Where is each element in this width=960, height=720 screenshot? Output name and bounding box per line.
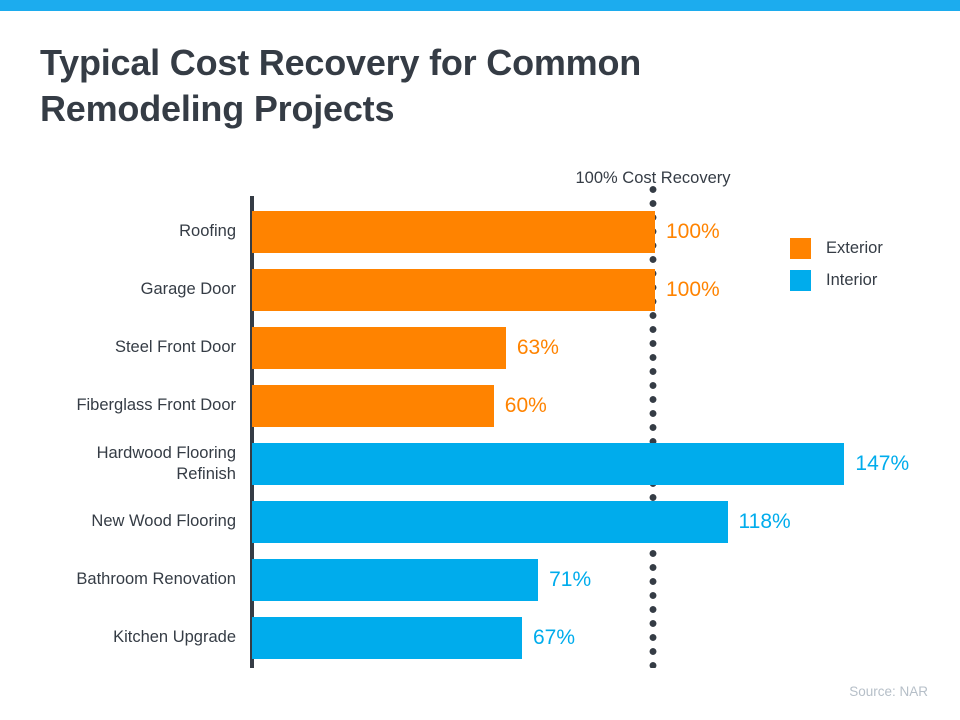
source-attribution: Source: NAR (849, 684, 928, 699)
legend-swatch-icon (790, 270, 811, 291)
bar-rect[interactable] (252, 501, 728, 543)
legend-label: Exterior (826, 239, 883, 258)
bar-value-label: 67% (533, 626, 575, 650)
bar-category-label: Kitchen Upgrade (6, 627, 236, 648)
legend-label: Interior (826, 271, 877, 290)
bar-rect[interactable] (252, 211, 655, 253)
chart-plot-area: 100% Cost Recovery Roofing100%Garage Doo… (0, 0, 960, 720)
bar-value-label: 60% (505, 394, 547, 418)
bar-category-label: Roofing (6, 221, 236, 242)
bar-rect[interactable] (252, 269, 655, 311)
bar-category-label: Garage Door (6, 279, 236, 300)
bar-value-label: 100% (666, 220, 720, 244)
bar-row: Steel Front Door63% (0, 327, 960, 369)
bar-value-label: 63% (517, 336, 559, 360)
bar-rect[interactable] (252, 443, 844, 485)
bar-rect[interactable] (252, 327, 506, 369)
bar-category-label: Fiberglass Front Door (6, 395, 236, 416)
bar-category-label: Hardwood Flooring Refinish (6, 443, 236, 485)
bar-value-label: 100% (666, 278, 720, 302)
bar-rect[interactable] (252, 617, 522, 659)
bar-value-label: 147% (855, 452, 909, 476)
bar-value-label: 118% (739, 510, 791, 534)
bar-category-label: Bathroom Renovation (6, 569, 236, 590)
bar-rect[interactable] (252, 559, 538, 601)
bar-row: Bathroom Renovation71% (0, 559, 960, 601)
bar-category-label: Steel Front Door (6, 337, 236, 358)
bar-row: New Wood Flooring118% (0, 501, 960, 543)
legend-item-interior[interactable]: Interior (790, 264, 883, 296)
bar-row: Kitchen Upgrade67% (0, 617, 960, 659)
bar-row: Hardwood Flooring Refinish147% (0, 443, 960, 485)
bar-row: Fiberglass Front Door60% (0, 385, 960, 427)
bar-category-label: New Wood Flooring (6, 511, 236, 532)
bar-value-label: 71% (549, 568, 591, 592)
legend-swatch-icon (790, 238, 811, 259)
bar-rect[interactable] (252, 385, 494, 427)
legend-item-exterior[interactable]: Exterior (790, 232, 883, 264)
chart-legend: ExteriorInterior (790, 232, 883, 296)
